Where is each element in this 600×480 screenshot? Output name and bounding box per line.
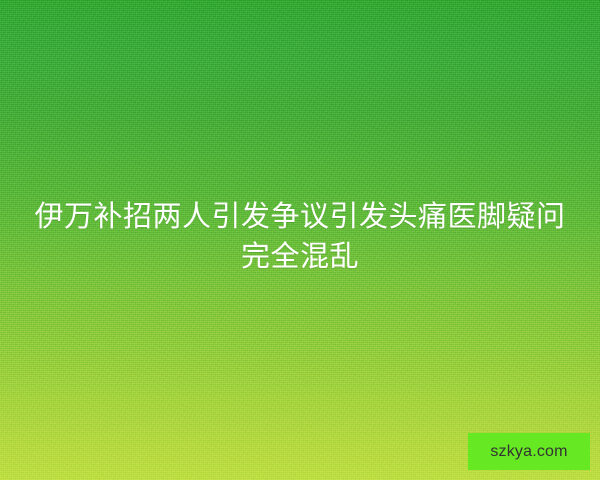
image-card: 伊万补招两人引发争议引发头痛医脚疑问完全混乱 szkya.com (0, 0, 600, 480)
watermark-label: szkya.com (490, 444, 567, 460)
headline-text: 伊万补招两人引发争议引发头痛医脚疑问完全混乱 (24, 196, 576, 276)
headline-container: 伊万补招两人引发争议引发头痛医脚疑问完全混乱 (0, 196, 600, 276)
watermark-badge: szkya.com (468, 433, 590, 470)
